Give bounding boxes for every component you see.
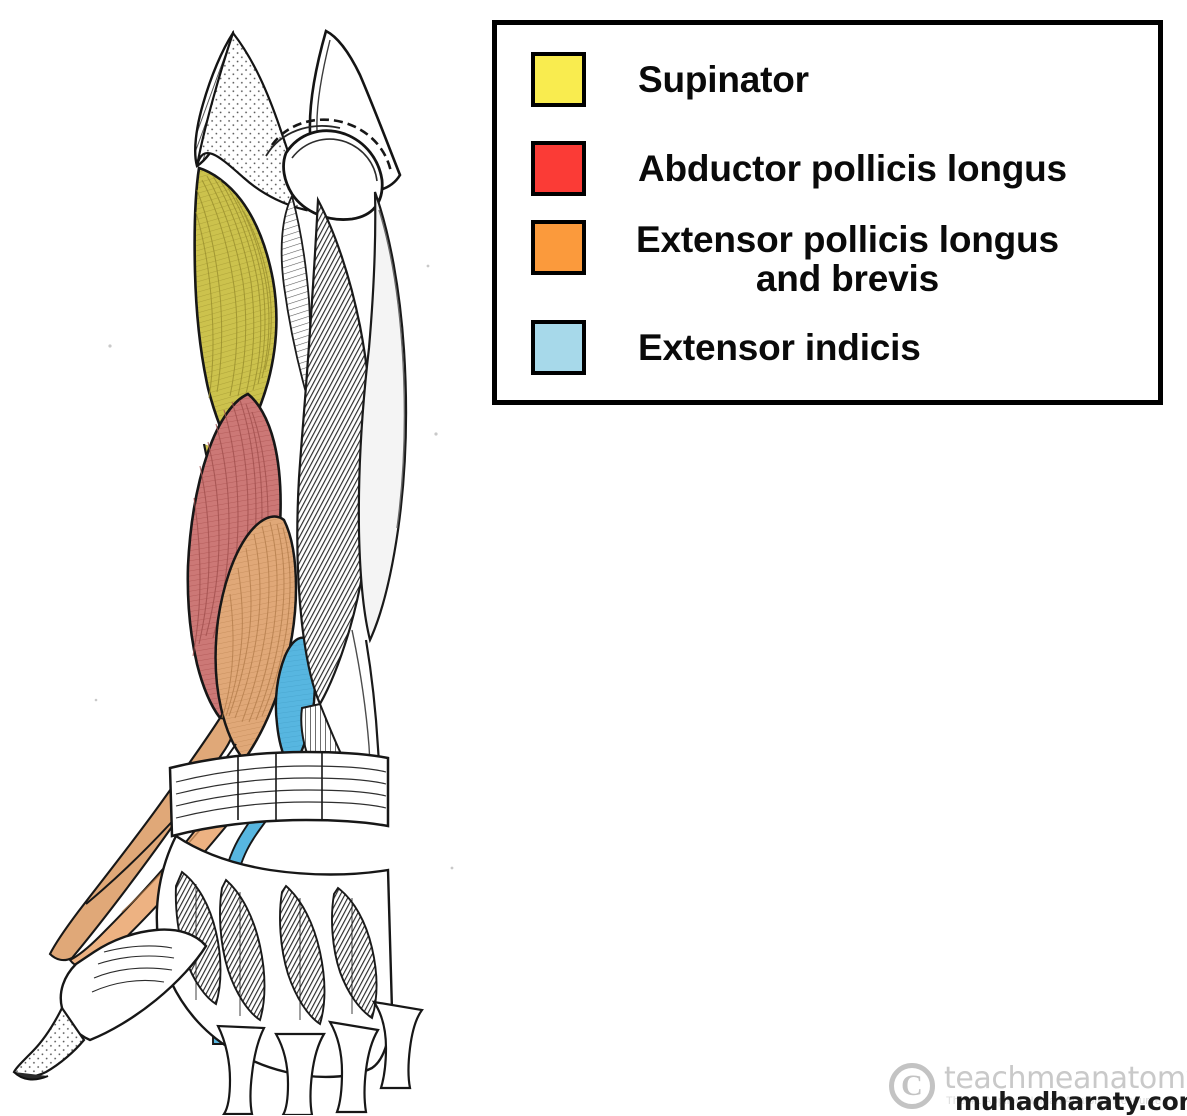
- legend-swatch-abductor-pollicis-longus: [531, 141, 586, 196]
- legend-item-extensor-pollicis: Extensor pollicis longus and brevis: [531, 220, 1059, 298]
- legend-box: Supinator Abductor pollicis longus Exten…: [492, 20, 1163, 405]
- hand-dorsum: [14, 836, 422, 1115]
- legend-item-supinator: Supinator: [531, 52, 809, 107]
- legend-label-abductor-pollicis-longus: Abductor pollicis longus: [638, 149, 1067, 188]
- anatomy-figure-panel: [0, 0, 480, 1115]
- legend-swatch-supinator: [531, 52, 586, 107]
- copyright-icon: C: [889, 1063, 935, 1109]
- legend-label-extensor-pollicis: Extensor pollicis longus and brevis: [636, 220, 1059, 298]
- forearm-illustration: [0, 0, 480, 1115]
- muhadharaty-watermark: muhadharaty.com: [955, 1087, 1187, 1116]
- extensor-retinaculum: [170, 752, 388, 836]
- legend-label-extensor-indicis: Extensor indicis: [638, 328, 921, 367]
- legend-item-abductor-pollicis-longus: Abductor pollicis longus: [531, 141, 1067, 196]
- legend-swatch-extensor-pollicis: [531, 220, 586, 275]
- legend-swatch-extensor-indicis: [531, 320, 586, 375]
- ulna-extensor-group: [297, 192, 406, 812]
- legend-item-extensor-indicis: Extensor indicis: [531, 320, 921, 375]
- legend-label-supinator: Supinator: [638, 60, 809, 99]
